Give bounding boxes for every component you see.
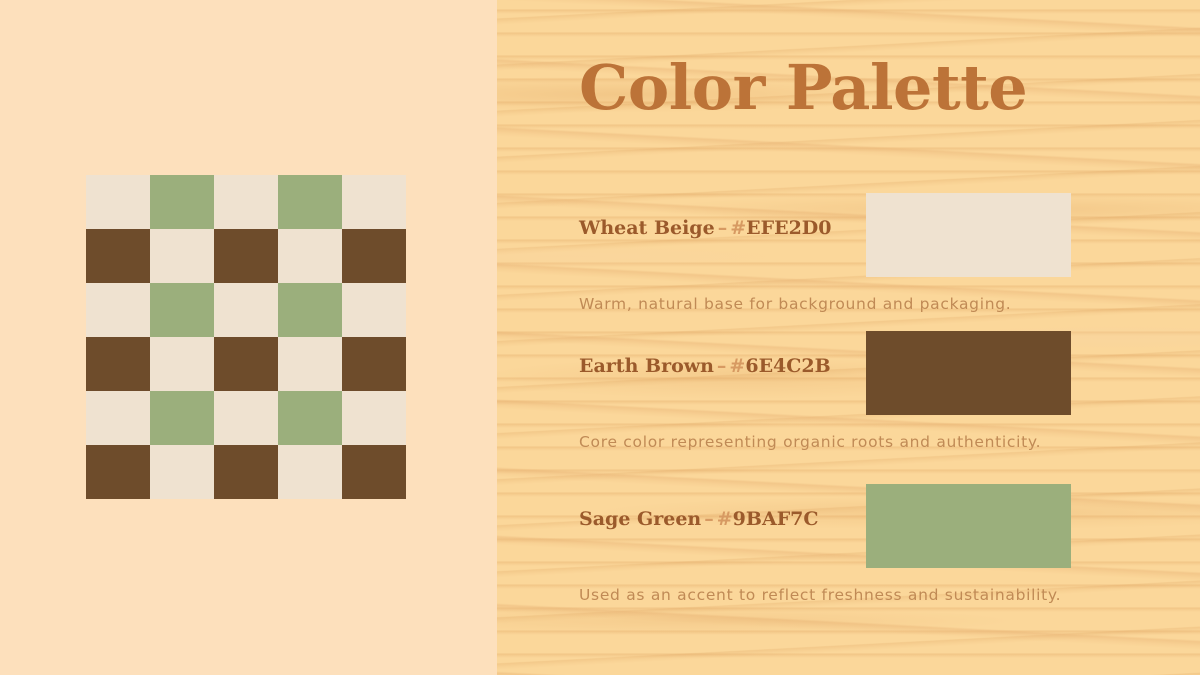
checkerboard-cell-beige bbox=[214, 283, 278, 337]
checkerboard-cell-beige bbox=[86, 175, 150, 229]
palette-entry-list: Wheat Beige–#EFE2D0 Warm, natural base f… bbox=[497, 0, 1200, 675]
palette-hex-hash: # bbox=[717, 508, 733, 530]
palette-description: Warm, natural base for background and pa… bbox=[579, 297, 1011, 313]
palette-color-name: Sage Green bbox=[579, 508, 701, 530]
color-swatch-sage-green bbox=[866, 484, 1071, 568]
palette-color-name: Wheat Beige bbox=[579, 217, 715, 239]
checkerboard-cell-beige bbox=[342, 175, 406, 229]
palette-color-name: Earth Brown bbox=[579, 355, 714, 377]
checkerboard-cell-beige bbox=[150, 445, 214, 499]
checkerboard-cell-green bbox=[278, 391, 342, 445]
palette-hex-code: 6E4C2B bbox=[745, 355, 830, 377]
checkerboard-cell-beige bbox=[278, 229, 342, 283]
checkerboard-cell-brown bbox=[86, 337, 150, 391]
checkerboard-cell-beige bbox=[278, 445, 342, 499]
palette-hex-code: 9BAF7C bbox=[733, 508, 819, 530]
palette-hex-code: EFE2D0 bbox=[746, 217, 831, 239]
checkerboard-cell-brown bbox=[342, 229, 406, 283]
checkerboard-cell-beige bbox=[86, 283, 150, 337]
palette-entry-label: Earth Brown–#6E4C2B bbox=[579, 357, 831, 376]
checkerboard-cell-beige bbox=[214, 175, 278, 229]
palette-entry-label: Sage Green–#9BAF7C bbox=[579, 510, 819, 529]
checkerboard-cell-brown bbox=[214, 445, 278, 499]
checkerboard-cell-beige bbox=[150, 229, 214, 283]
checkerboard-cell-beige bbox=[342, 391, 406, 445]
palette-separator: – bbox=[715, 217, 731, 239]
checkerboard-cell-brown bbox=[342, 445, 406, 499]
palette-hex-hash: # bbox=[730, 217, 746, 239]
checkerboard-cell-beige bbox=[86, 391, 150, 445]
checkerboard-cell-beige bbox=[150, 337, 214, 391]
color-swatch-earth-brown bbox=[866, 331, 1071, 415]
palette-description: Used as an accent to reflect freshness a… bbox=[579, 588, 1061, 604]
checkerboard-cell-green bbox=[278, 283, 342, 337]
right-panel: Color Palette Wheat Beige–#EFE2D0 Warm, … bbox=[497, 0, 1200, 675]
checkerboard-cell-green bbox=[150, 283, 214, 337]
checkerboard-cell-brown bbox=[214, 229, 278, 283]
palette-description: Core color representing organic roots an… bbox=[579, 435, 1041, 451]
checkerboard-cell-brown bbox=[214, 337, 278, 391]
color-palette-slide: Color Palette Wheat Beige–#EFE2D0 Warm, … bbox=[0, 0, 1200, 675]
palette-hex-hash: # bbox=[729, 355, 745, 377]
checkerboard-cell-beige bbox=[342, 283, 406, 337]
checkerboard-cell-brown bbox=[342, 337, 406, 391]
checkerboard-cell-green bbox=[278, 175, 342, 229]
color-swatch-wheat-beige bbox=[866, 193, 1071, 277]
left-panel bbox=[0, 0, 497, 675]
checkerboard-cell-beige bbox=[278, 337, 342, 391]
palette-separator: – bbox=[701, 508, 717, 530]
checkerboard-pattern bbox=[86, 175, 406, 499]
checkerboard-cell-beige bbox=[214, 391, 278, 445]
palette-entry-label: Wheat Beige–#EFE2D0 bbox=[579, 219, 831, 238]
checkerboard-cell-green bbox=[150, 175, 214, 229]
checkerboard-cell-brown bbox=[86, 229, 150, 283]
checkerboard-cell-brown bbox=[86, 445, 150, 499]
palette-separator: – bbox=[714, 355, 730, 377]
checkerboard-cell-green bbox=[150, 391, 214, 445]
